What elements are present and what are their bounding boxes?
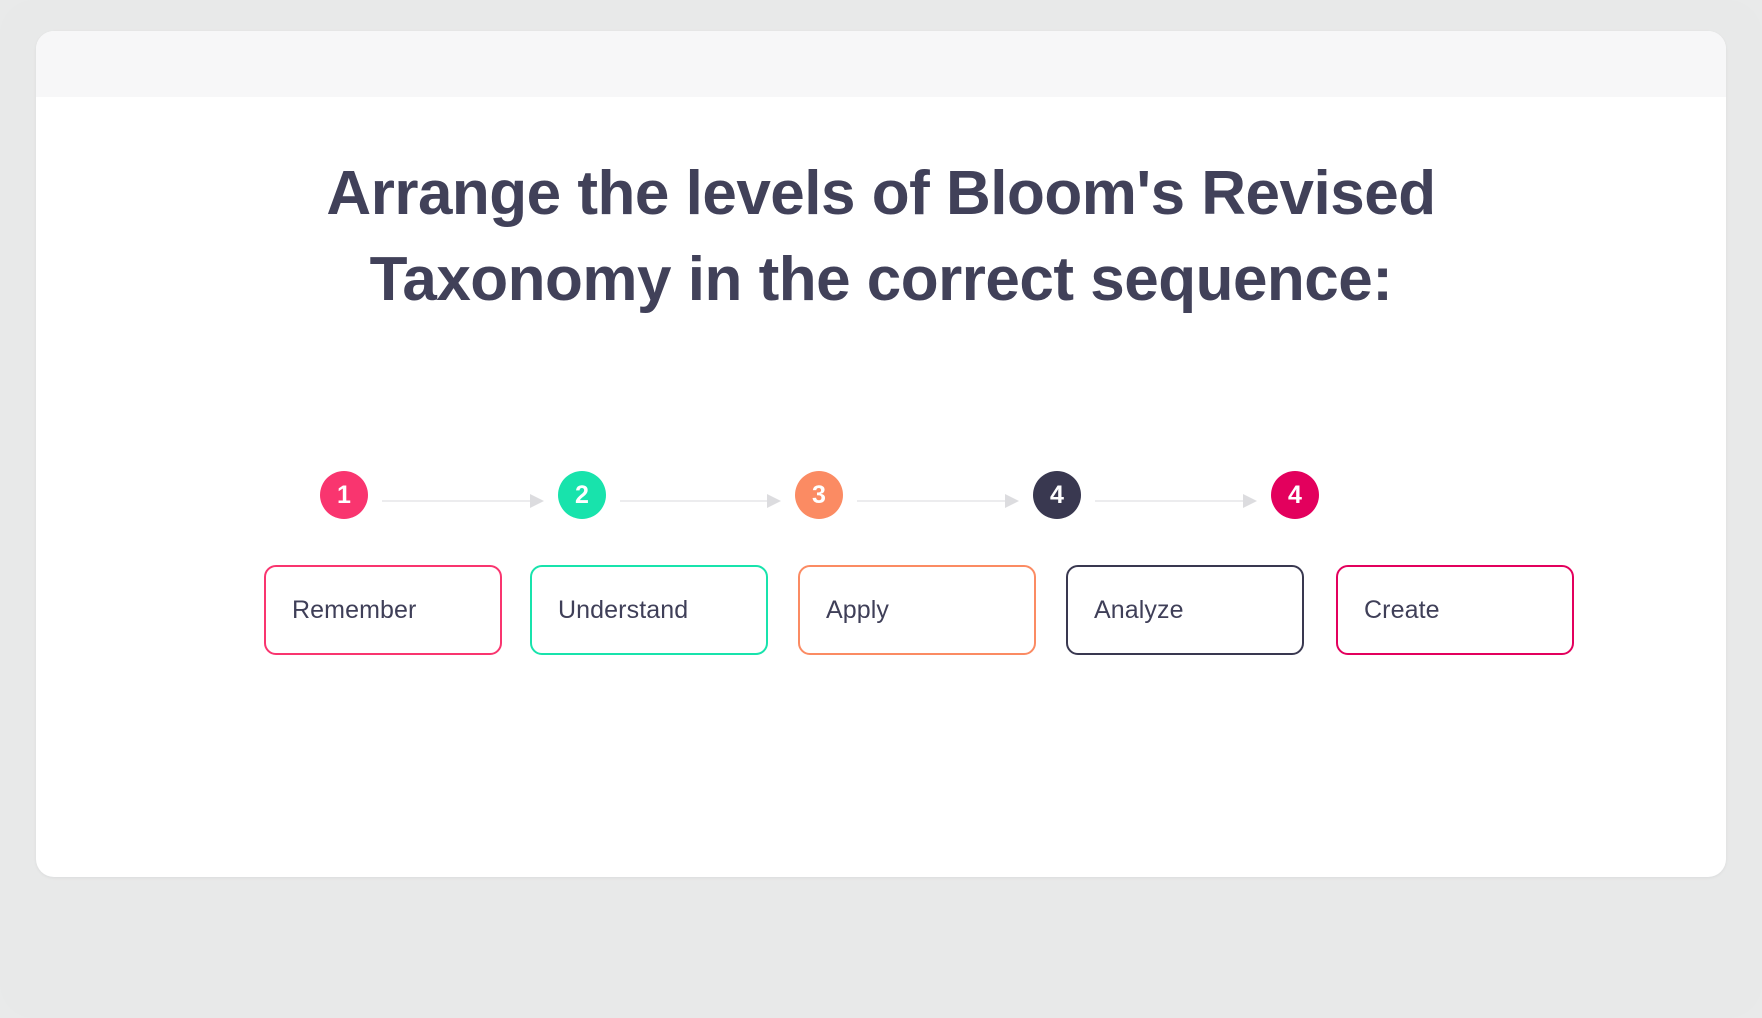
app-viewport: Arrange the levels of Bloom's Revised Ta…	[0, 0, 1762, 1018]
option-box-remember[interactable]: Remember	[264, 565, 502, 655]
option-label: Analyze	[1094, 596, 1184, 625]
connector-line	[1095, 500, 1244, 502]
option-label: Apply	[826, 596, 889, 625]
sequence-stepper: 12344	[264, 471, 1574, 531]
step-connector-arrow-3	[857, 494, 1019, 508]
question-title: Arrange the levels of Bloom's Revised Ta…	[96, 151, 1666, 322]
card-topbar	[36, 31, 1726, 97]
step-connector-arrow-4	[1095, 494, 1257, 508]
option-box-apply[interactable]: Apply	[798, 565, 1036, 655]
step-indicator-5: 4	[1271, 471, 1319, 519]
arrow-head-icon	[1005, 494, 1019, 508]
step-number: 2	[575, 483, 589, 508]
step-number: 4	[1288, 483, 1302, 508]
option-label: Understand	[558, 596, 688, 625]
step-indicator-2: 2	[558, 471, 606, 519]
connector-line	[620, 500, 768, 502]
step-connector-arrow-2	[620, 494, 781, 508]
arrow-head-icon	[530, 494, 544, 508]
question-card: Arrange the levels of Bloom's Revised Ta…	[36, 31, 1726, 877]
arrow-head-icon	[767, 494, 781, 508]
connector-line	[382, 500, 531, 502]
step-connector-arrow-1	[382, 494, 544, 508]
option-box-analyze[interactable]: Analyze	[1066, 565, 1304, 655]
option-label: Remember	[292, 596, 416, 625]
option-box-row: RememberUnderstandApplyAnalyzeCreate	[264, 565, 1574, 657]
step-number: 4	[1050, 483, 1064, 508]
arrow-head-icon	[1243, 494, 1257, 508]
option-box-create[interactable]: Create	[1336, 565, 1574, 655]
step-indicator-1: 1	[320, 471, 368, 519]
connector-line	[857, 500, 1006, 502]
step-number: 3	[812, 483, 826, 508]
step-number: 1	[337, 483, 351, 508]
step-indicator-4: 4	[1033, 471, 1081, 519]
step-indicator-3: 3	[795, 471, 843, 519]
option-label: Create	[1364, 596, 1440, 625]
option-box-understand[interactable]: Understand	[530, 565, 768, 655]
